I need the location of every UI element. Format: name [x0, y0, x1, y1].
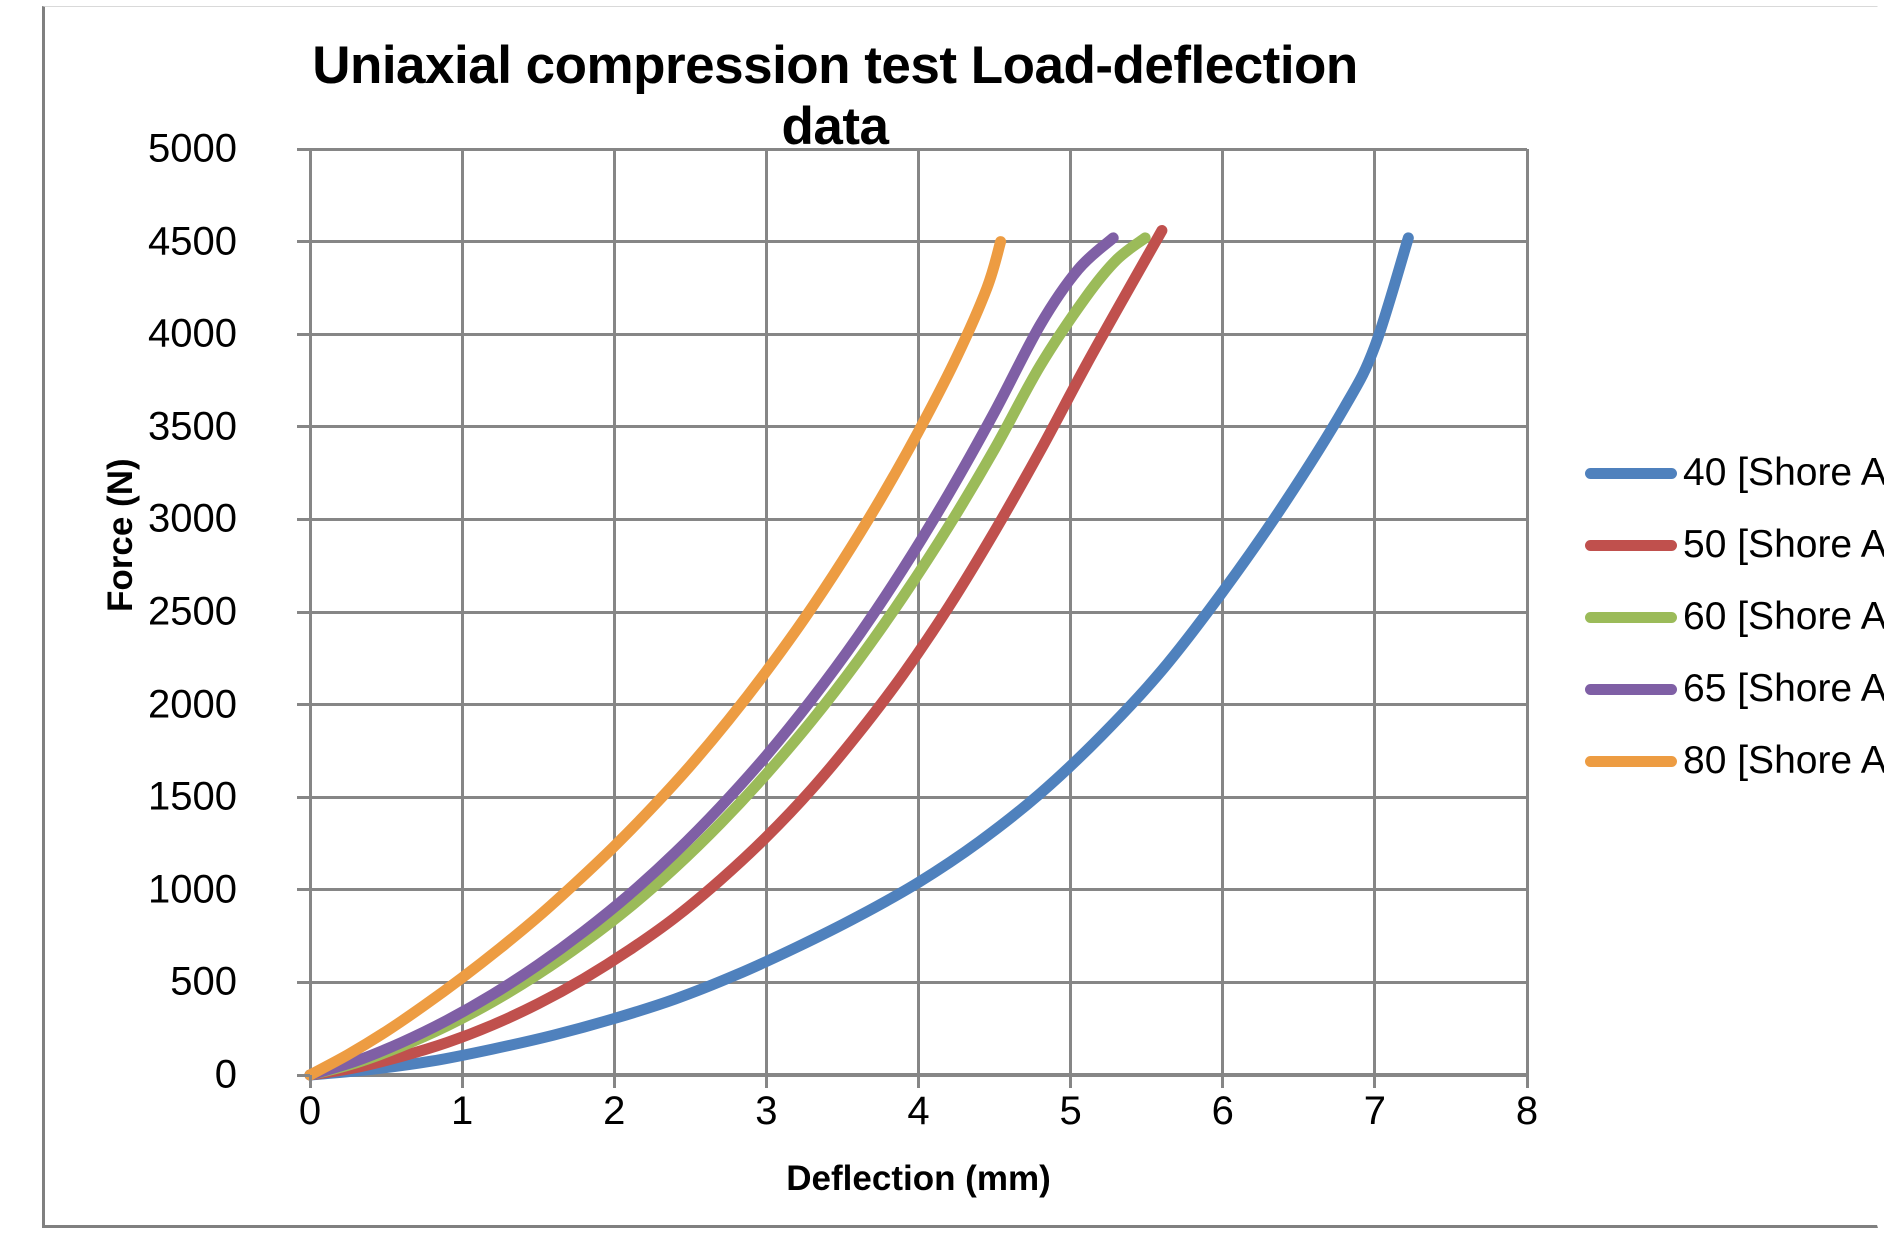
tick-mark-x [309, 1075, 312, 1088]
y-tick-label: 0 [77, 1053, 237, 1098]
series-line [310, 242, 1001, 1075]
x-tick-label: 3 [721, 1089, 811, 1134]
x-tick-label: 8 [1482, 1089, 1572, 1134]
chart-frame: Uniaxial compression test Load-deflectio… [42, 6, 1878, 1228]
tick-mark-y [297, 703, 310, 706]
x-tick-label: 4 [874, 1089, 964, 1134]
plot-area [310, 149, 1527, 1075]
chart-title: Uniaxial compression test Load-deflectio… [265, 35, 1405, 158]
legend-item[interactable]: 50 [Shore A] [1585, 509, 1884, 581]
legend-label: 60 [Shore A] [1683, 595, 1884, 639]
legend-label: 65 [Shore A] [1683, 667, 1884, 711]
tick-mark-x [461, 1075, 464, 1088]
y-tick-label: 1500 [77, 775, 237, 820]
legend-item[interactable]: 80 [Shore A] [1585, 725, 1884, 797]
legend-label: 50 [Shore A] [1683, 523, 1884, 567]
tick-mark-x [917, 1075, 920, 1088]
x-tick-label: 0 [265, 1089, 355, 1134]
legend-color-swatch [1585, 756, 1677, 767]
legend-color-swatch [1585, 468, 1677, 479]
tick-mark-y [297, 611, 310, 614]
legend-color-swatch [1585, 612, 1677, 623]
tick-mark-x [1526, 1075, 1529, 1088]
series-lines [310, 149, 1527, 1075]
tick-mark-y [297, 240, 310, 243]
tick-mark-x [613, 1075, 616, 1088]
legend-color-swatch [1585, 684, 1677, 695]
legend-label: 80 [Shore A] [1683, 739, 1884, 783]
tick-mark-y [297, 888, 310, 891]
tick-mark-y [297, 981, 310, 984]
tick-mark-y [297, 796, 310, 799]
series-line [310, 238, 1113, 1075]
y-tick-label: 2500 [77, 590, 237, 635]
chart-legend: 40 [Shore A]50 [Shore A]60 [Shore A]65 [… [1585, 437, 1884, 797]
tick-mark-y [297, 518, 310, 521]
x-tick-label: 2 [569, 1089, 659, 1134]
y-tick-label: 3000 [77, 497, 237, 542]
y-tick-label: 4000 [77, 312, 237, 357]
y-tick-label: 3500 [77, 404, 237, 449]
tick-mark-x [1069, 1075, 1072, 1088]
y-tick-label: 1000 [77, 867, 237, 912]
x-tick-label: 1 [417, 1089, 507, 1134]
tick-mark-x [1221, 1075, 1224, 1088]
legend-label: 40 [Shore A] [1683, 451, 1884, 495]
series-line [310, 230, 1162, 1075]
y-tick-label: 2000 [77, 682, 237, 727]
x-tick-label: 7 [1330, 1089, 1420, 1134]
y-tick-label: 500 [77, 960, 237, 1005]
tick-mark-y [297, 148, 310, 151]
y-tick-label: 5000 [77, 127, 237, 172]
legend-item[interactable]: 60 [Shore A] [1585, 581, 1884, 653]
tick-mark-x [765, 1075, 768, 1088]
legend-item[interactable]: 65 [Shore A] [1585, 653, 1884, 725]
x-tick-label: 6 [1178, 1089, 1268, 1134]
x-axis-title: Deflection (mm) [310, 1159, 1527, 1199]
legend-color-swatch [1585, 540, 1677, 551]
tick-mark-y [297, 425, 310, 428]
y-tick-label: 4500 [77, 219, 237, 264]
tick-mark-y [297, 333, 310, 336]
legend-item[interactable]: 40 [Shore A] [1585, 437, 1884, 509]
tick-mark-x [1373, 1075, 1376, 1088]
x-tick-label: 5 [1026, 1089, 1116, 1134]
